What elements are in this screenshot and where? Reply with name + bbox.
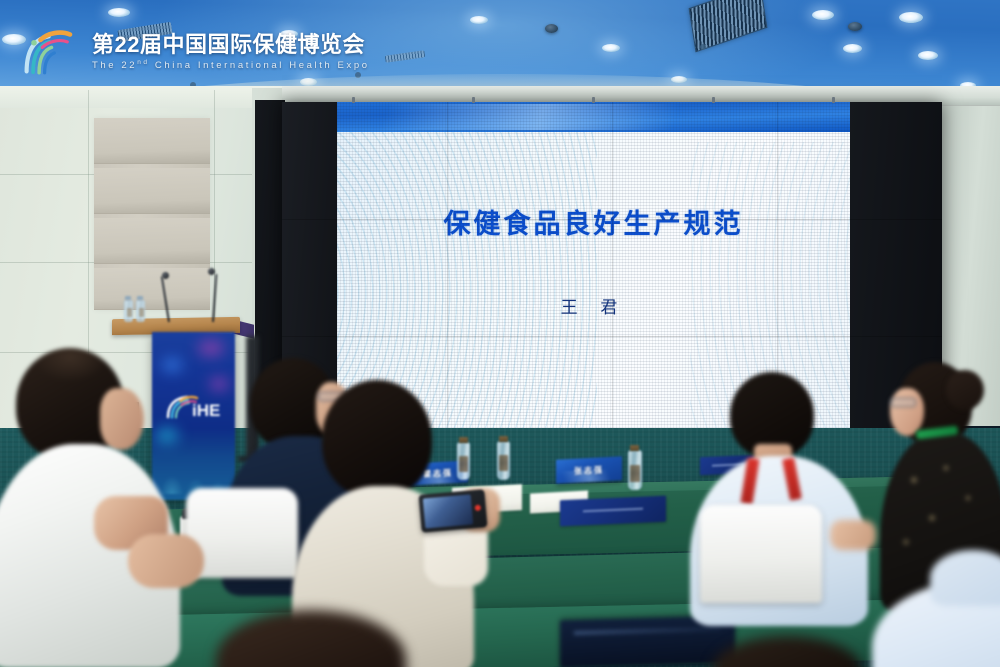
smartphone[interactable] <box>418 489 487 533</box>
forearm <box>830 520 876 550</box>
led-panel-seam <box>282 336 942 337</box>
ceiling-speaker <box>848 22 862 31</box>
bottle-label <box>630 465 640 482</box>
water-bottle <box>628 450 642 490</box>
nameplate: 张志强 <box>556 456 622 483</box>
microphone-head <box>208 268 215 275</box>
event-logo-text: 第22届中国国际保健博览会 The 22nd China Internation… <box>92 33 370 72</box>
hair-bun <box>946 370 984 410</box>
face-profile <box>100 388 144 450</box>
person-foreground-head-left <box>216 610 406 667</box>
ceiling-speaker <box>545 24 558 33</box>
chair-cover <box>700 505 822 603</box>
conference-room-photo: 保健食品良好生产规范 王 君 国家食品安全风险评估中心 China Nation… <box>0 0 1000 667</box>
event-logo-overlay: 第22届中国国际保健博览会 The 22nd China Internation… <box>22 24 382 80</box>
head <box>712 636 862 667</box>
ihe-logo-mark <box>22 28 82 76</box>
slide-title: 保健食品良好生产规范 <box>337 202 850 241</box>
acoustic-panel-slat <box>94 268 210 310</box>
bottle-cap <box>125 296 131 300</box>
slide-header-bar <box>337 102 850 132</box>
bottle-cap <box>630 445 639 451</box>
downlight <box>108 8 130 17</box>
person-front-right-man <box>872 556 1000 667</box>
person-foreground-head-right <box>712 636 862 667</box>
event-title-en-pre: The 22 <box>92 60 137 71</box>
sprinkler-head <box>700 44 706 50</box>
acoustic-panel-slat <box>94 168 210 214</box>
led-mount-clip <box>712 97 715 103</box>
downlight <box>812 10 834 20</box>
head <box>216 610 406 667</box>
podium-water-bottle <box>124 300 133 322</box>
podium-water-bottle <box>136 300 145 322</box>
face <box>890 388 924 436</box>
acoustic-panel-group <box>94 118 210 310</box>
slide-author: 王 君 <box>337 293 850 318</box>
led-panel-seam <box>612 102 613 452</box>
event-title-en: The 22nd China International Health Expo <box>92 59 370 71</box>
eyeglasses-icon <box>890 398 916 407</box>
acoustic-panel-slat <box>94 218 210 264</box>
person-front-left-man-white-polo <box>0 348 214 667</box>
slide-header-swoosh <box>337 104 850 130</box>
smartphone-screen <box>423 494 473 528</box>
event-title-en-post: China International Health Expo <box>150 60 370 71</box>
blue-folder <box>560 496 666 527</box>
forearm <box>128 534 204 588</box>
led-mount-clip <box>352 97 355 103</box>
acoustic-panel-slat <box>94 118 210 164</box>
event-title-cn: 第22届中国国际保健博览会 <box>92 33 370 58</box>
downlight <box>918 51 938 60</box>
led-panel-seam <box>282 219 942 220</box>
bottle-cap <box>137 296 143 300</box>
record-indicator <box>475 505 482 512</box>
ihe-logo-svg <box>22 28 82 76</box>
downlight <box>602 44 620 52</box>
led-mount-clip <box>832 97 835 103</box>
downlight <box>843 44 862 53</box>
led-mount-clip <box>592 97 595 103</box>
head <box>930 550 1000 606</box>
microphone-head <box>162 272 169 279</box>
downlight <box>899 12 923 23</box>
downlight <box>470 16 488 24</box>
led-mount-clip <box>472 97 475 103</box>
event-title-en-sup: nd <box>137 59 149 66</box>
